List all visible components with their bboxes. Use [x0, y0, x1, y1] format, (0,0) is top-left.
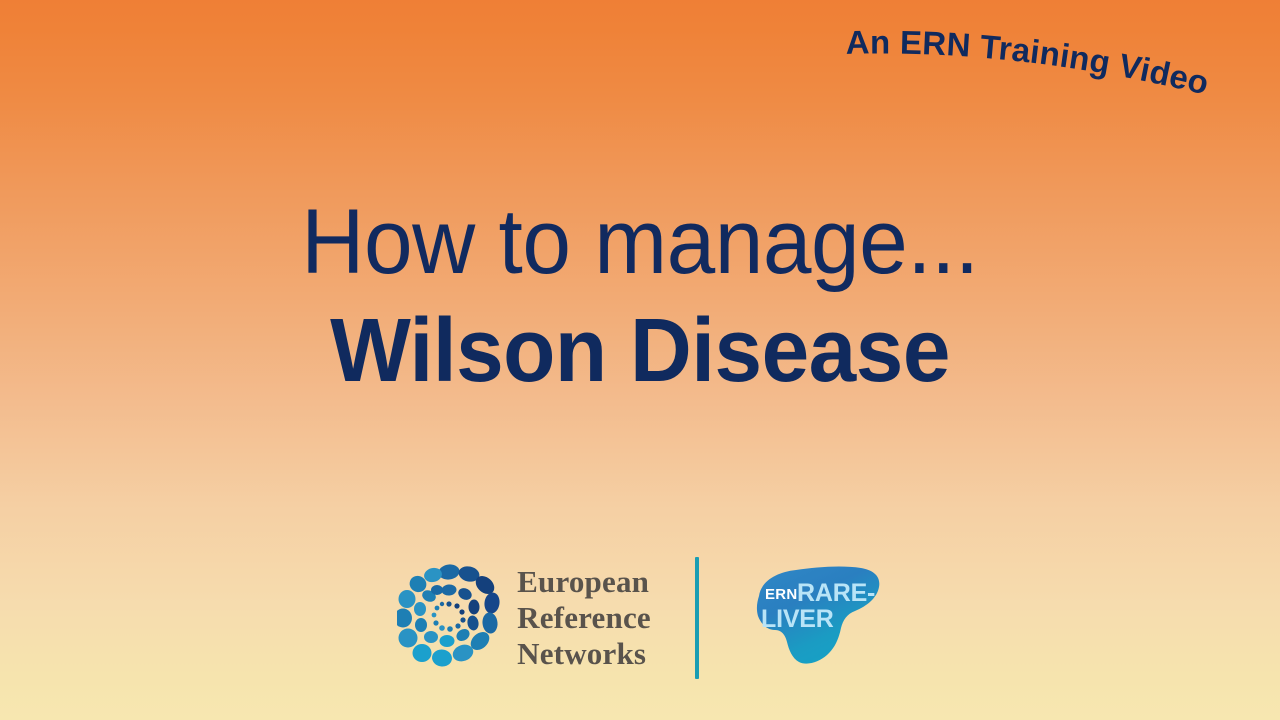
footer-logo-row: European Reference Networks ERN: [0, 548, 1280, 688]
ern-wordmark-line-3: Networks: [517, 636, 651, 672]
ern-wordmark: European Reference Networks: [517, 564, 651, 672]
rare-liver-ern-text: ERN: [765, 586, 798, 603]
corner-label-text: An ERN Training Video: [845, 23, 1212, 101]
rare-liver-line-1: RARE-: [797, 579, 875, 607]
ern-wordmark-line-1: European: [517, 564, 651, 600]
rare-liver-line-2: LIVER: [761, 605, 834, 633]
title-line-primary: How to manage...: [32, 196, 1248, 290]
title-line-subject: Wilson Disease: [32, 306, 1248, 398]
european-reference-networks-logo: European Reference Networks: [397, 563, 651, 673]
logo-divider: [695, 557, 699, 679]
ern-rare-liver-logo: ERN RARE- LIVER: [743, 562, 883, 674]
page-title: How to manage... Wilson Disease: [0, 196, 1280, 398]
corner-label: An ERN Training Video: [838, 8, 1278, 158]
ern-spiral-dots-icon: [397, 563, 501, 673]
title-slide: An ERN Training Video How to manage... W…: [0, 0, 1280, 720]
ern-wordmark-line-2: Reference: [517, 600, 651, 636]
